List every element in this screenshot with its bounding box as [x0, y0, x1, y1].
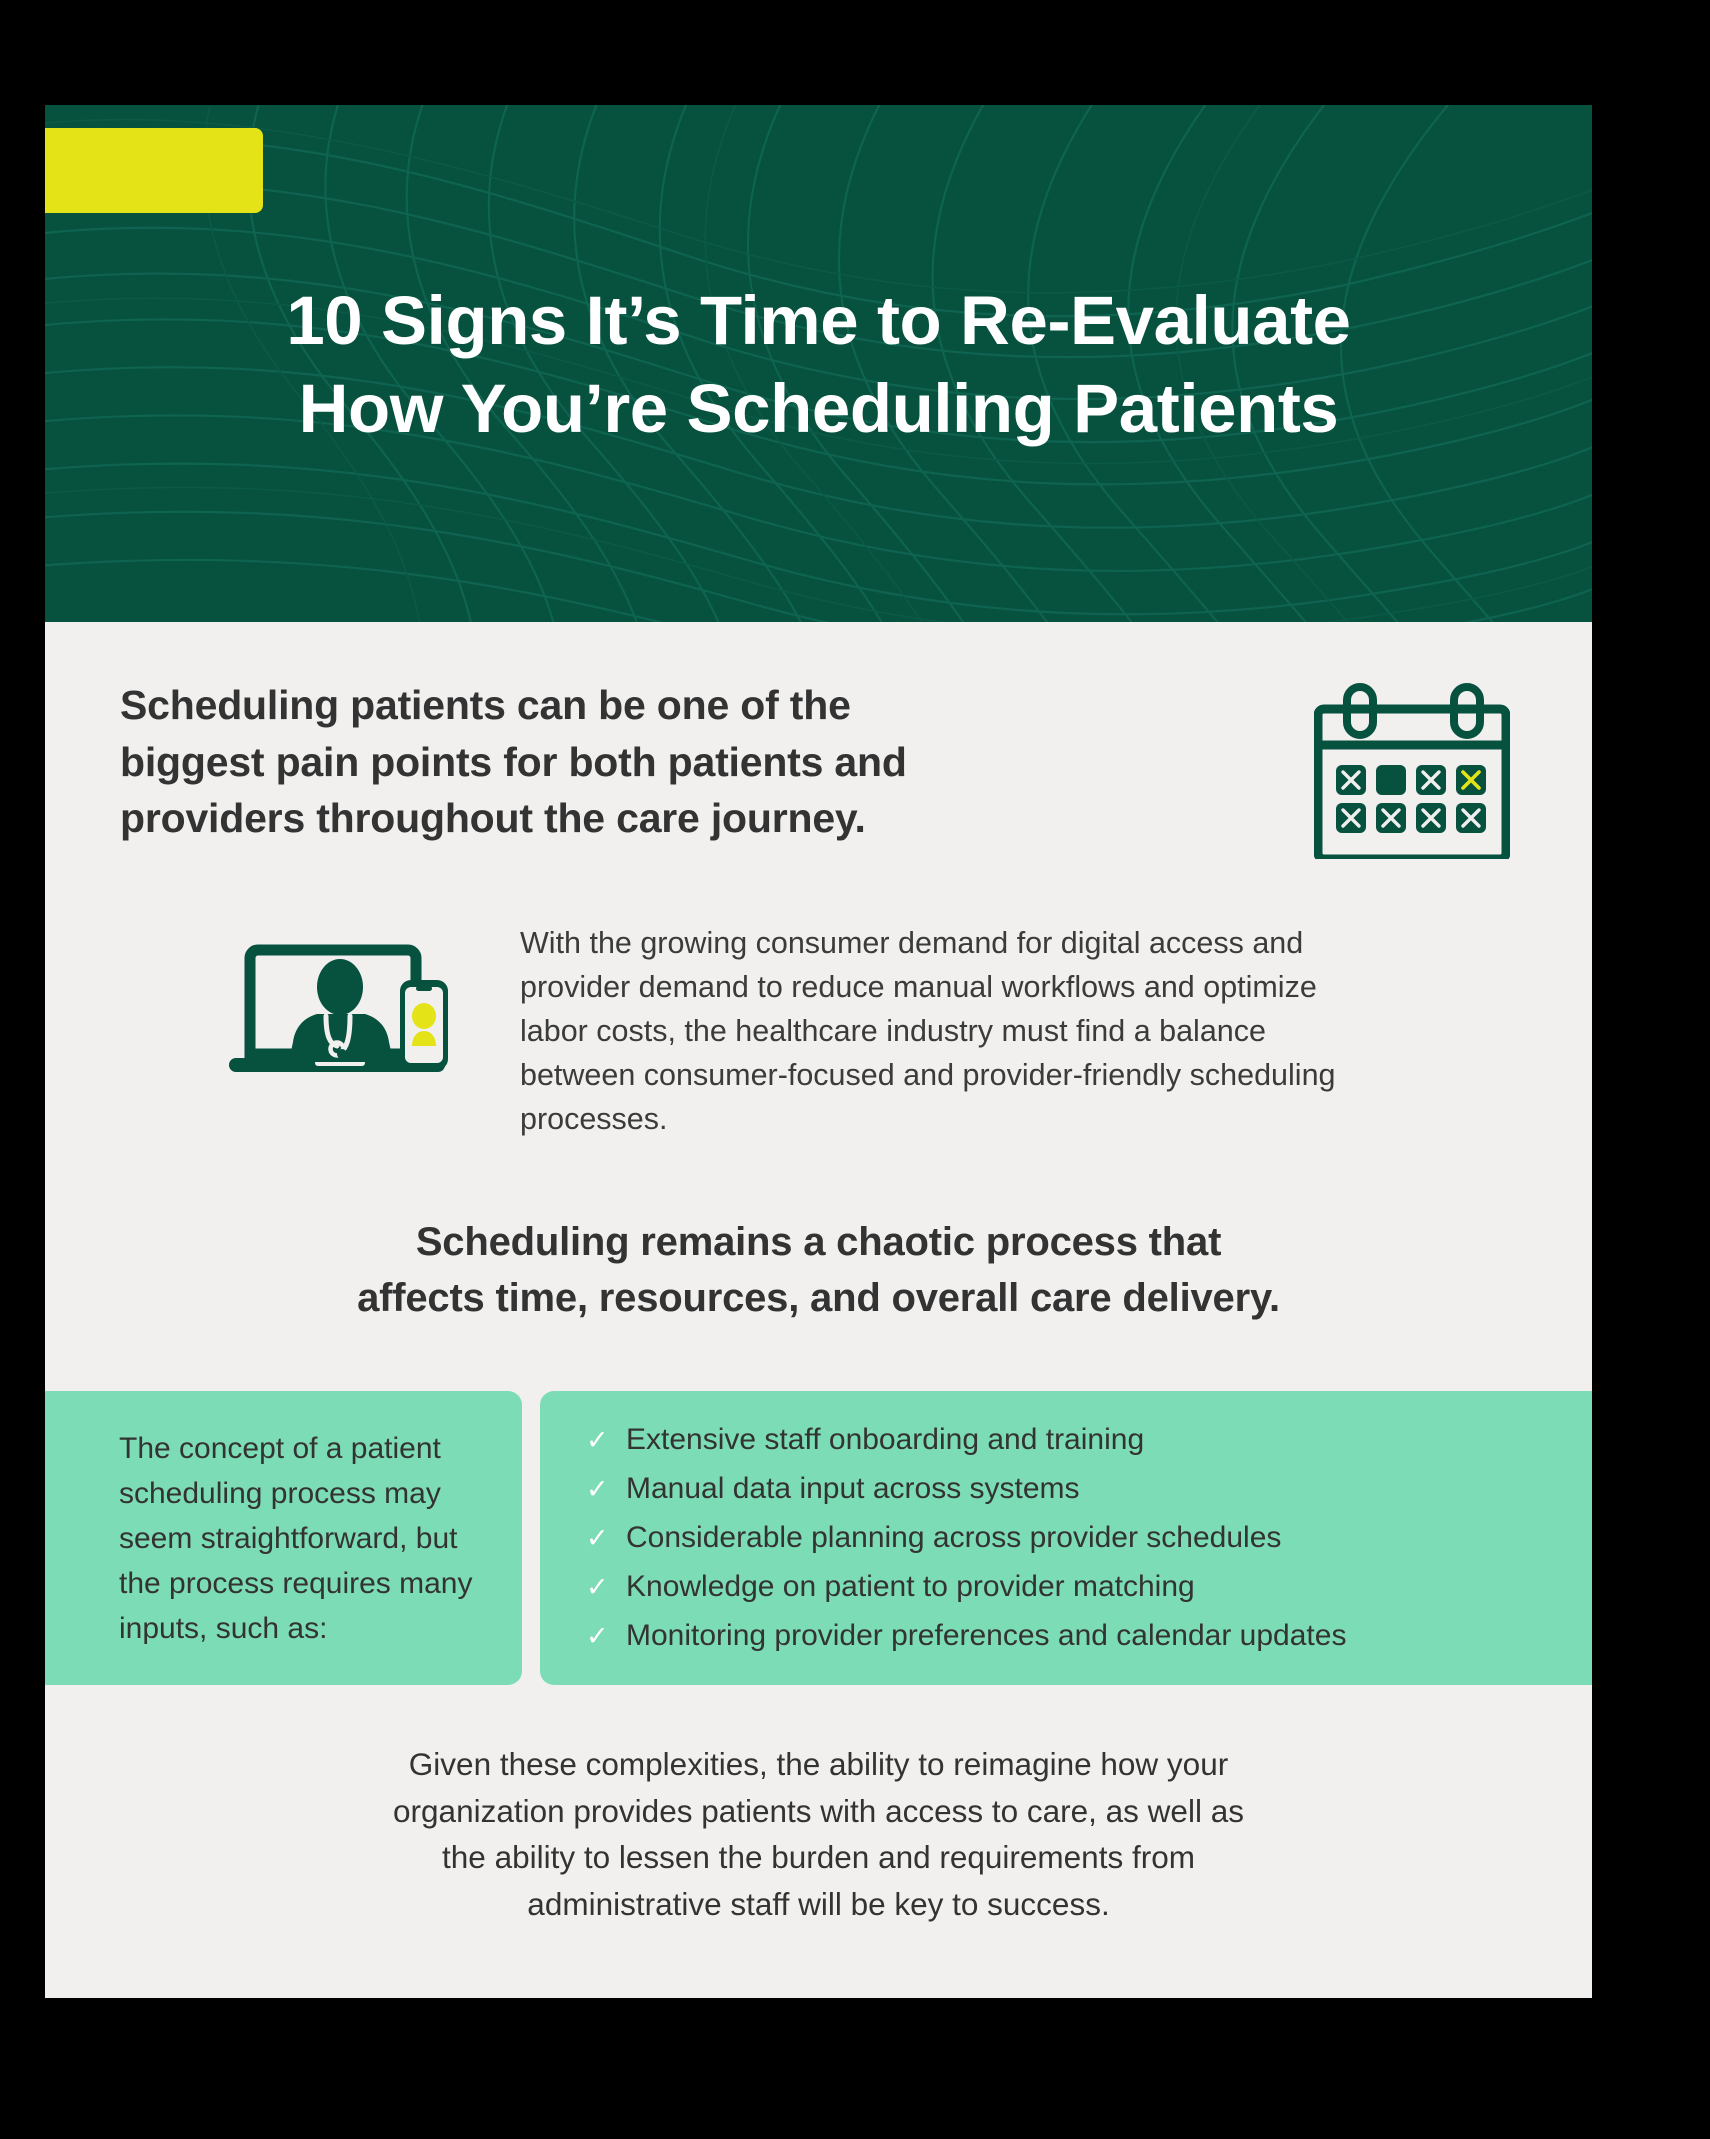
panel-checklist: ✓ Extensive staff onboarding and trainin…	[540, 1391, 1592, 1685]
title-line-1: 10 Signs It’s Time to Re-Evaluate	[85, 277, 1552, 365]
page-title: 10 Signs It’s Time to Re-Evaluate How Yo…	[45, 277, 1592, 454]
inputs-checklist: ✓ Extensive staff onboarding and trainin…	[560, 1420, 1562, 1657]
closing-line-1: Given these complexities, the ability to…	[345, 1741, 1292, 1788]
telehealth-paragraph: With the growing consumer demand for dig…	[520, 922, 1370, 1142]
closing-line-3: the ability to lessen the burden and req…	[345, 1834, 1292, 1881]
check-icon: ✓	[560, 1471, 626, 1507]
list-item: ✓ Extensive staff onboarding and trainin…	[560, 1420, 1562, 1460]
list-item-label: Knowledge on patient to provider matchin…	[626, 1567, 1195, 1607]
check-icon: ✓	[560, 1520, 626, 1556]
panel-concept: The concept of a patient scheduling proc…	[45, 1391, 522, 1685]
laptop-phone-telehealth-icon	[222, 940, 452, 1093]
intro-section: Scheduling patients can be one of the bi…	[45, 622, 1592, 864]
list-item-label: Considerable planning across provider sc…	[626, 1518, 1281, 1558]
list-item-label: Extensive staff onboarding and training	[626, 1420, 1144, 1460]
closing-line-4: administrative staff will be key to succ…	[345, 1881, 1292, 1928]
infographic-page: 10 Signs It’s Time to Re-Evaluate How Yo…	[45, 105, 1592, 1998]
closing-line-2: organization provides patients with acce…	[345, 1788, 1292, 1835]
telehealth-section: With the growing consumer demand for dig…	[45, 922, 1592, 1142]
list-item: ✓ Monitoring provider preferences and ca…	[560, 1616, 1562, 1656]
check-icon: ✓	[560, 1618, 626, 1654]
list-item: ✓ Manual data input across systems	[560, 1469, 1562, 1509]
panel-concept-text: The concept of a patient scheduling proc…	[119, 1426, 496, 1651]
header-banner: 10 Signs It’s Time to Re-Evaluate How Yo…	[45, 105, 1592, 622]
chaos-line-1: Scheduling remains a chaotic process tha…	[105, 1214, 1532, 1271]
title-line-2: How You’re Scheduling Patients	[85, 365, 1552, 453]
list-item: ✓ Considerable planning across provider …	[560, 1518, 1562, 1558]
yellow-accent-bar	[45, 128, 263, 213]
intro-heading: Scheduling patients can be one of the bi…	[120, 677, 1000, 847]
inputs-panels: The concept of a patient scheduling proc…	[45, 1391, 1592, 1685]
chaos-statement: Scheduling remains a chaotic process tha…	[45, 1214, 1592, 1328]
check-icon: ✓	[560, 1569, 626, 1605]
calendar-icon	[1314, 683, 1510, 864]
body-content: Scheduling patients can be one of the bi…	[45, 622, 1592, 1928]
chaos-line-2: affects time, resources, and overall car…	[105, 1270, 1532, 1327]
check-icon: ✓	[560, 1422, 626, 1458]
closing-statement: Given these complexities, the ability to…	[45, 1741, 1592, 1927]
list-item-label: Monitoring provider preferences and cale…	[626, 1616, 1346, 1656]
list-item-label: Manual data input across systems	[626, 1469, 1080, 1509]
list-item: ✓ Knowledge on patient to provider match…	[560, 1567, 1562, 1607]
